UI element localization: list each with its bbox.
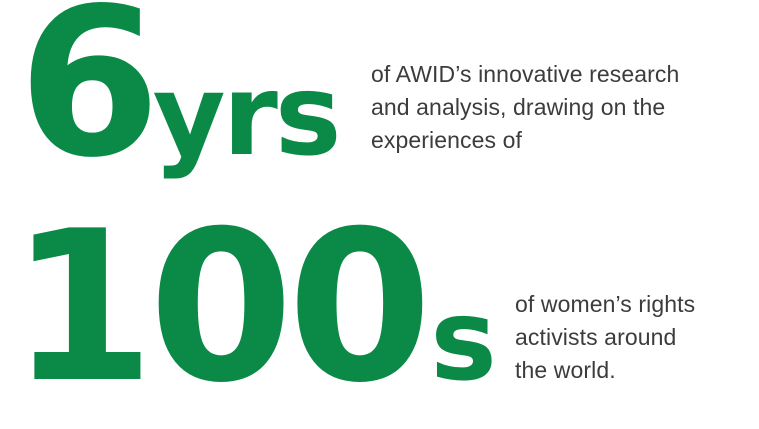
infographic-canvas: 6yrs of AWID’s innovative research and a… (0, 0, 759, 424)
stat-figure-years: 6yrs (18, 0, 339, 187)
stat-description-years-line-1: of AWID’s innovative research (371, 58, 731, 91)
stat-description-activists-line-2: activists around (515, 321, 755, 354)
stat-block-years: 6yrs of AWID’s innovative research and a… (0, 0, 759, 212)
stat-description-activists-line-1: of women’s rights (515, 288, 755, 321)
stat-number-activists: 100 (10, 187, 426, 429)
stat-figure-activists: 100s (10, 204, 494, 412)
stat-description-years: of AWID’s innovative research and analys… (371, 58, 731, 157)
stat-unit-years: yrs (153, 51, 339, 181)
stat-description-activists-line-3: the world. (515, 354, 755, 387)
stat-unit-activists: s (430, 276, 494, 406)
stat-description-years-line-2: and analysis, drawing on the (371, 91, 731, 124)
stat-description-years-line-3: experiences of (371, 124, 731, 157)
stat-number-years: 6 (18, 0, 151, 203)
stat-description-activists: of women’s rights activists around the w… (515, 288, 755, 387)
stat-block-activists: 100s of women’s rights activists around … (0, 212, 759, 424)
